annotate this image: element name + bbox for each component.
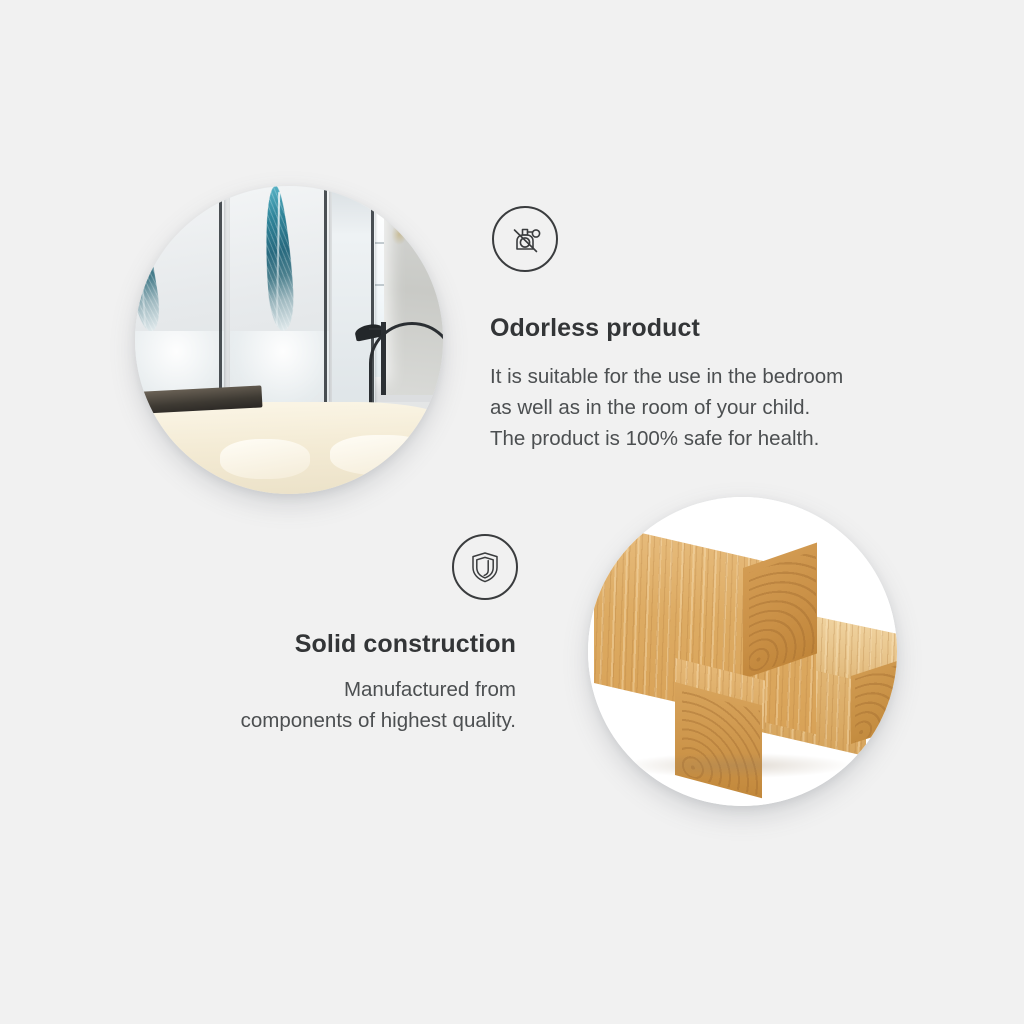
pillow (330, 435, 433, 475)
no-fragrance-icon (492, 206, 558, 272)
art-panel-left (135, 186, 224, 402)
pillow (220, 439, 310, 479)
feature-body-odorless: It is suitable for the use in the bedroo… (490, 361, 843, 454)
feather-graphic (261, 186, 296, 332)
art-panel-center (230, 186, 329, 402)
wooden-beams-photo (588, 497, 897, 806)
feature-title-solid: Solid construction (0, 630, 516, 659)
feature-title-odorless: Odorless product (490, 314, 700, 343)
bed (135, 402, 443, 494)
product-feature-layout: Odorless product It is suitable for the … (0, 0, 1024, 1024)
wall-stain (391, 224, 406, 245)
feather-graphic (135, 195, 164, 333)
bedroom-feather-art-photo (135, 186, 443, 494)
wood-shadow (625, 753, 847, 778)
feature-body-solid: Manufactured from components of highest … (0, 674, 516, 736)
headboard (369, 322, 443, 405)
shield-icon (452, 534, 518, 600)
